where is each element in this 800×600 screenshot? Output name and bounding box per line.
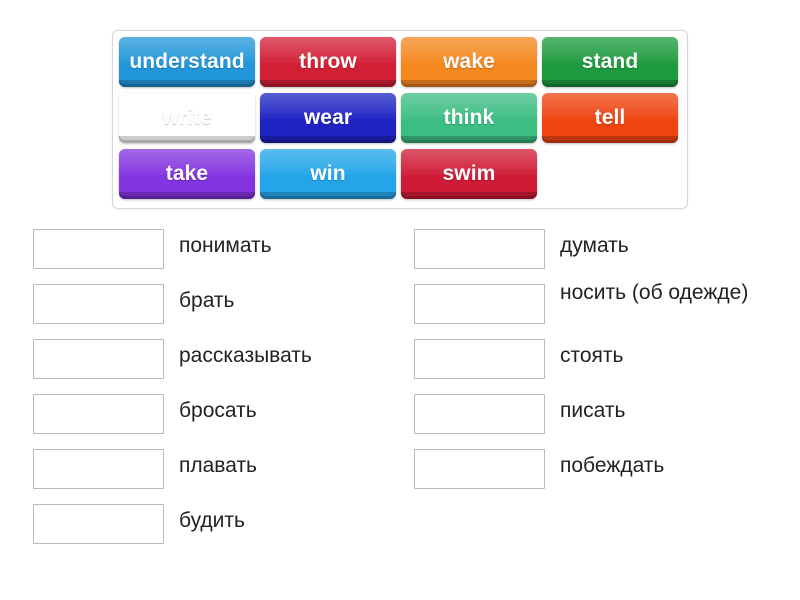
answer-label: бросать [179, 387, 257, 424]
drop-slot[interactable] [414, 339, 545, 379]
answer-row: писать [414, 387, 774, 442]
answer-row: носить (об одежде) [414, 277, 774, 332]
drop-slot[interactable] [414, 229, 545, 269]
answer-label: стоять [560, 332, 624, 369]
answer-row: бросать [33, 387, 393, 442]
word-tile-label: tell [591, 106, 630, 130]
tile-row: take win swim [119, 149, 683, 205]
word-tile-label: write [158, 106, 216, 130]
word-tile-tell[interactable]: tell [542, 93, 678, 143]
answer-label: понимать [179, 222, 272, 259]
word-tile-win[interactable]: win [260, 149, 396, 199]
answer-row: побеждать [414, 442, 774, 497]
tile-row: understand throw wake stand [119, 37, 683, 93]
answer-label: рассказывать [179, 332, 312, 369]
answer-row: будить [33, 497, 393, 552]
word-tile-wake[interactable]: wake [401, 37, 537, 87]
drop-slot[interactable] [414, 284, 545, 324]
answer-label: побеждать [560, 442, 664, 479]
drop-slot[interactable] [33, 394, 164, 434]
word-tile-label: swim [439, 162, 500, 186]
answer-column-right: думать носить (об одежде) стоять писать … [414, 222, 774, 497]
drop-slot[interactable] [33, 339, 164, 379]
drop-slot[interactable] [33, 504, 164, 544]
matching-exercise-page: understand throw wake stand write wear t… [0, 0, 800, 600]
word-tile-swim[interactable]: swim [401, 149, 537, 199]
word-tile-label: wake [439, 50, 499, 74]
word-tile-stand[interactable]: stand [542, 37, 678, 87]
word-tile-throw[interactable]: throw [260, 37, 396, 87]
word-tile-understand[interactable]: understand [119, 37, 255, 87]
answer-row: стоять [414, 332, 774, 387]
answer-label: плавать [179, 442, 257, 479]
tile-bank-panel: understand throw wake stand write wear t… [112, 30, 688, 209]
drop-slot[interactable] [414, 449, 545, 489]
tile-row: write wear think tell [119, 93, 683, 149]
word-tile-label: understand [125, 50, 248, 74]
answer-row: думать [414, 222, 774, 277]
answer-row: рассказывать [33, 332, 393, 387]
word-tile-label: stand [578, 50, 643, 74]
answer-label: будить [179, 497, 245, 534]
word-tile-think[interactable]: think [401, 93, 537, 143]
word-tile-write[interactable]: write [119, 93, 255, 143]
word-tile-label: throw [295, 50, 361, 74]
answer-label: писать [560, 387, 625, 424]
answer-label: думать [560, 222, 629, 259]
word-tile-label: wear [300, 106, 356, 130]
drop-slot[interactable] [33, 449, 164, 489]
tile-slot-empty [542, 149, 678, 199]
drop-slot[interactable] [33, 284, 164, 324]
answer-row: брать [33, 277, 393, 332]
answer-row: понимать [33, 222, 393, 277]
word-tile-take[interactable]: take [119, 149, 255, 199]
drop-slot[interactable] [414, 394, 545, 434]
drop-slot[interactable] [33, 229, 164, 269]
word-tile-label: take [162, 162, 212, 186]
word-tile-wear[interactable]: wear [260, 93, 396, 143]
answer-row: плавать [33, 442, 393, 497]
answer-label: брать [179, 277, 234, 314]
answer-column-left: понимать брать рассказывать бросать плав… [33, 222, 393, 552]
word-tile-label: think [440, 106, 499, 130]
word-tile-label: win [306, 162, 349, 186]
answer-label: носить (об одежде) [560, 277, 748, 306]
